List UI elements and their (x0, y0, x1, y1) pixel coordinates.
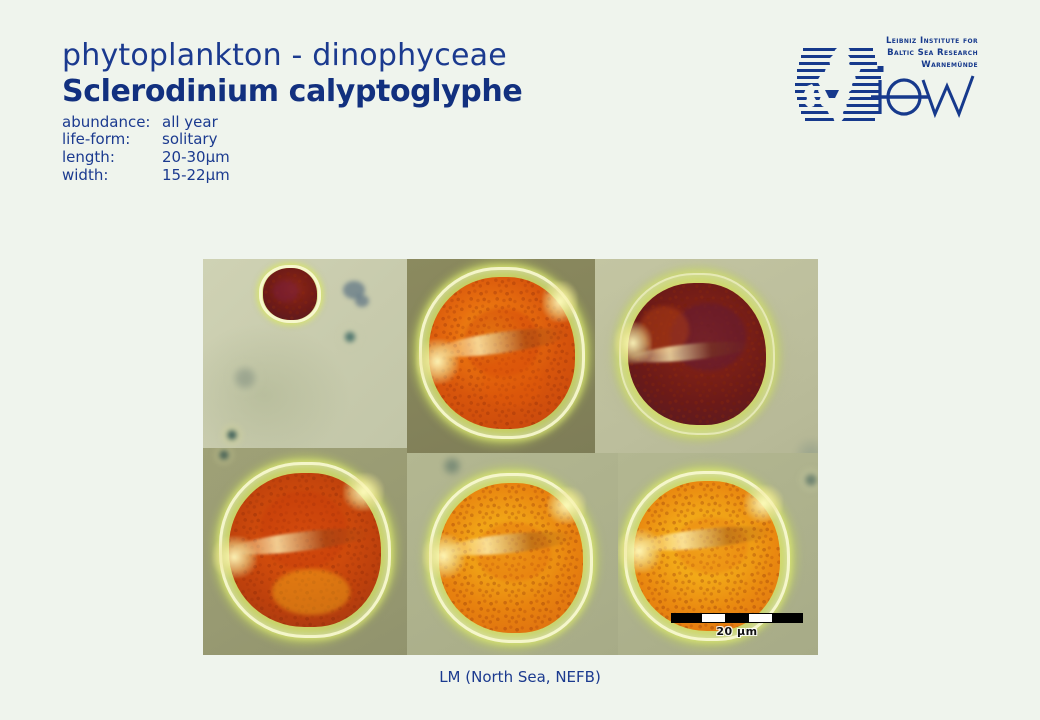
species-spec-list: abundance: all year life-form: solitary … (62, 114, 762, 185)
panel-bottom-center (407, 453, 618, 655)
cell-specimen (619, 273, 775, 435)
logo-line-1: Leibniz Institute for (886, 35, 978, 47)
cell-apical-notch (343, 473, 384, 512)
cell-specimen (429, 473, 593, 643)
slide-header: phytoplankton - dinophyceae Sclerodinium… (62, 40, 762, 184)
micrograph-montage: 20 µm (203, 259, 818, 655)
cell-blob (273, 280, 299, 302)
spec-label-abundance: abundance: (62, 114, 162, 132)
panel-top-left (203, 259, 407, 448)
spec-label-width: width: (62, 167, 162, 185)
cell-sulcus-notch (422, 534, 465, 578)
page-title-species: Sclerodinium calyptoglyphe (62, 75, 762, 108)
scale-bar-segment (749, 614, 772, 622)
spec-row-abundance: abundance: all year (62, 114, 762, 132)
panel-top-right (595, 259, 818, 453)
scale-bar (671, 613, 803, 623)
pyrenoid (272, 569, 351, 615)
scale-bar-label: 20 µm (671, 625, 803, 638)
panel-bottom-left (203, 448, 407, 655)
cell-apical-notch (744, 485, 784, 522)
cell-apical-notch (547, 487, 586, 524)
scale-bar-group: 20 µm (671, 613, 803, 638)
oil-droplet (223, 359, 267, 397)
cell-specimen (419, 267, 585, 439)
oil-droplet (333, 321, 367, 353)
spec-value-length: 20-30µm (162, 149, 230, 167)
spec-label-length: length: (62, 149, 162, 167)
cell-specimen (219, 462, 391, 638)
oil-droplet (215, 419, 249, 448)
cell-apical-notch (542, 281, 579, 322)
iow-wordmark-icon (871, 60, 979, 122)
cell-sulcus-notch (618, 529, 661, 573)
scale-bar-segment (702, 614, 725, 622)
debris-spot (355, 295, 369, 307)
iow-logo: Leibniz Institute for Baltic Sea Researc… (795, 30, 980, 130)
page-title-group: phytoplankton - dinophyceae (62, 40, 762, 72)
spec-value-life-form: solitary (162, 131, 217, 149)
spec-label-life-form: life-form: (62, 131, 162, 149)
scale-bar-segment (725, 614, 748, 622)
spec-row-length: length: 20-30µm (62, 149, 762, 167)
cell-protoplast (263, 268, 318, 319)
logo-line-2: Baltic Sea Research (886, 47, 978, 59)
scale-bar-segment (772, 614, 802, 622)
cell-specimen (259, 265, 321, 323)
panel-top-center (407, 259, 595, 453)
spec-value-abundance: all year (162, 114, 218, 132)
oil-droplet (439, 455, 465, 477)
spec-row-width: width: 15-22µm (62, 167, 762, 185)
spec-value-width: 15-22µm (162, 167, 230, 185)
pyrenoid (482, 356, 543, 407)
scale-bar-segment (672, 614, 702, 622)
spec-row-life-form: life-form: solitary (62, 131, 762, 149)
montage-caption: LM (North Sea, NEFB) (0, 668, 1040, 686)
